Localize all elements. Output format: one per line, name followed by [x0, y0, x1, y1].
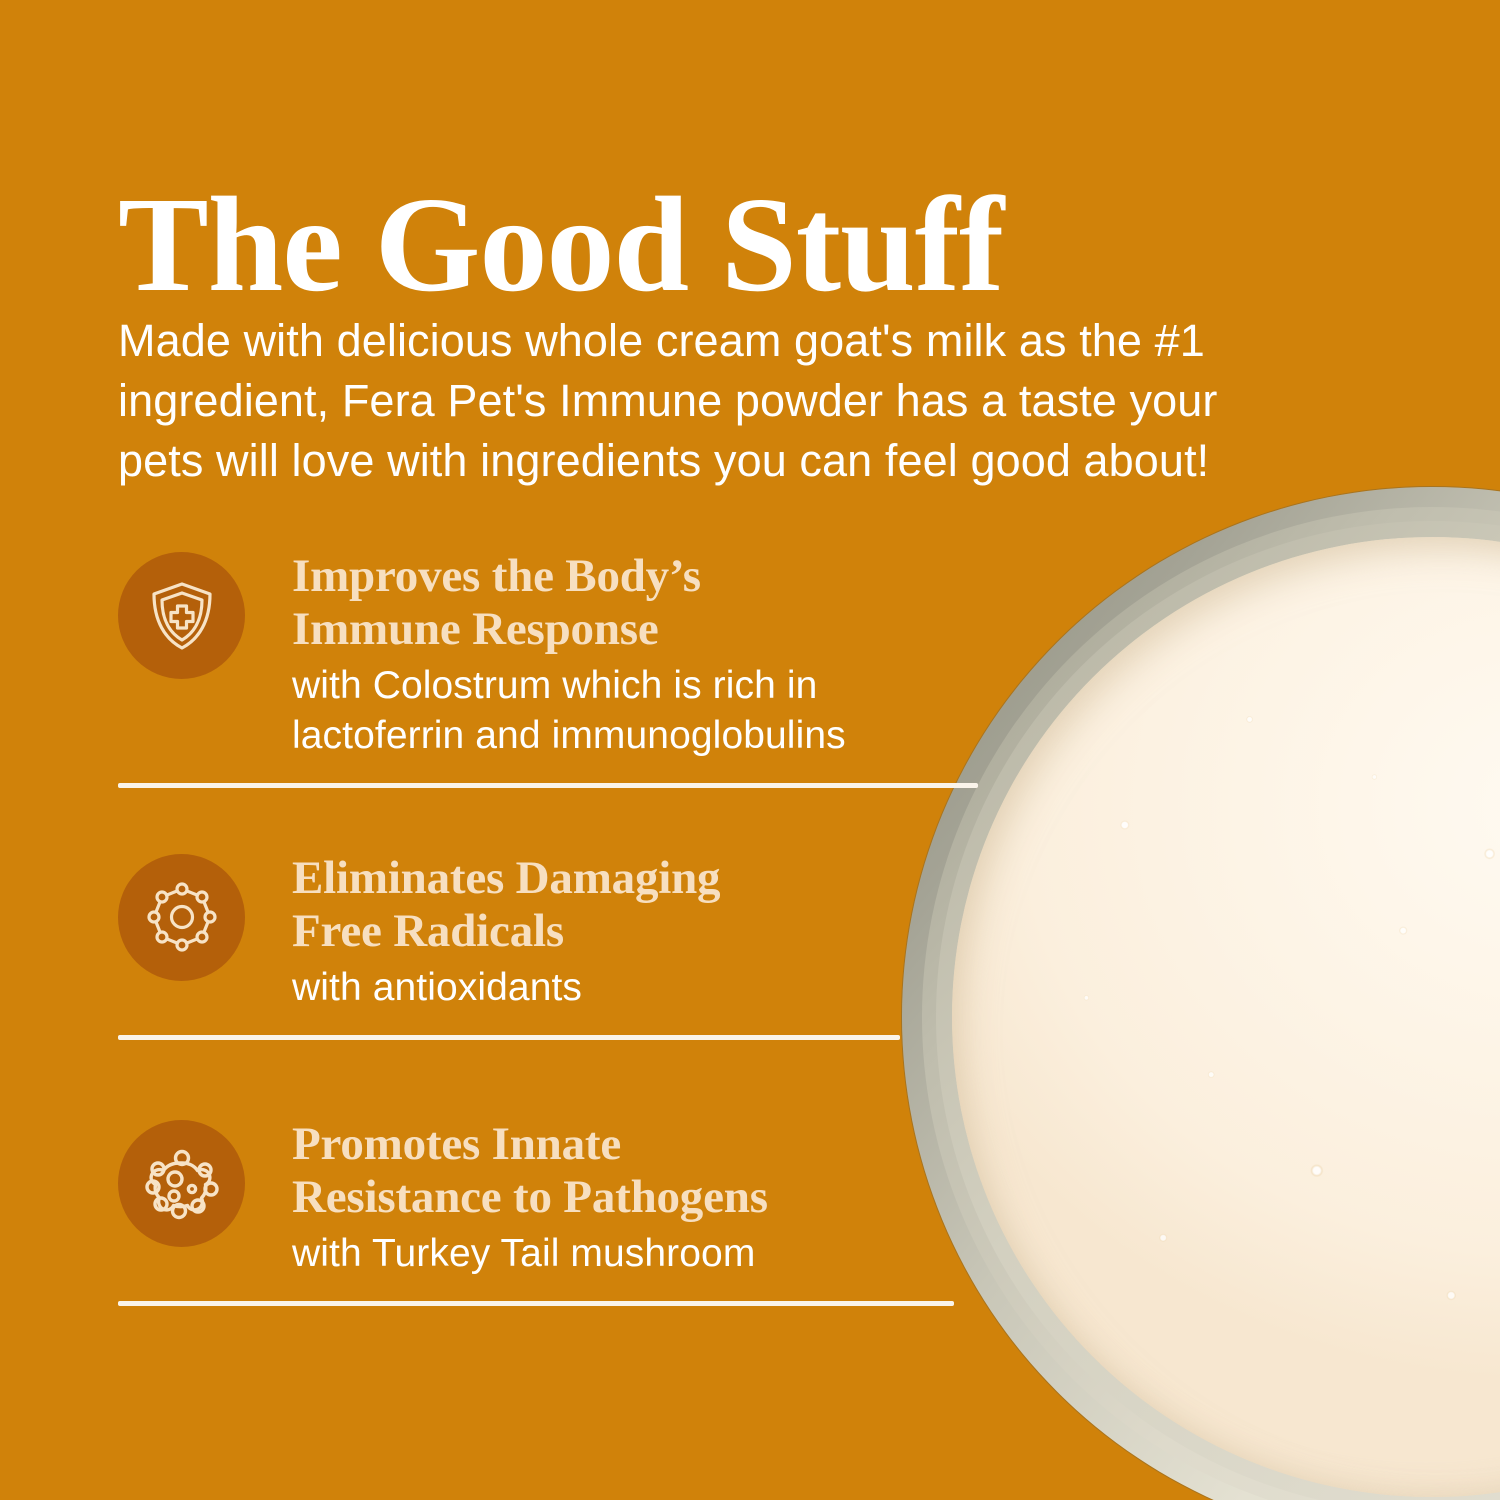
jar-rim-inner: [936, 521, 1500, 1500]
feature-subtitle: with Colostrum which is rich in lactofer…: [292, 661, 846, 761]
jar-outer-rim: [902, 487, 1500, 1500]
feature-title: Improves the Body’s Immune Response: [292, 550, 846, 655]
feature-divider: [118, 1301, 954, 1306]
feature-item-immune-response: Improves the Body’s Immune Response with…: [118, 548, 988, 788]
shield-cross-icon: [118, 552, 245, 679]
intro-paragraph: Made with delicious whole cream goat's m…: [118, 311, 1308, 491]
feature-subtitle: with Turkey Tail mushroom: [292, 1229, 768, 1279]
jar-powder-surface: [952, 537, 1500, 1497]
feature-list: Improves the Body’s Immune Response with…: [118, 548, 988, 1320]
feature-title: Promotes Innate Resistance to Pathogens: [292, 1118, 768, 1223]
feature-item-pathogen-resistance: Promotes Innate Resistance to Pathogens …: [118, 1116, 988, 1320]
feature-divider: [118, 1035, 900, 1040]
pathogen-virus-icon: [118, 1120, 245, 1247]
molecule-ring-icon: [118, 854, 245, 981]
feature-subtitle: with antioxidants: [292, 963, 720, 1013]
page-title: The Good Stuff: [118, 177, 1003, 313]
feature-title: Eliminates Damaging Free Radicals: [292, 852, 720, 957]
jar-rim-mid: [922, 507, 1500, 1500]
feature-item-free-radicals: Eliminates Damaging Free Radicals with a…: [118, 850, 988, 1054]
feature-divider: [118, 783, 978, 788]
